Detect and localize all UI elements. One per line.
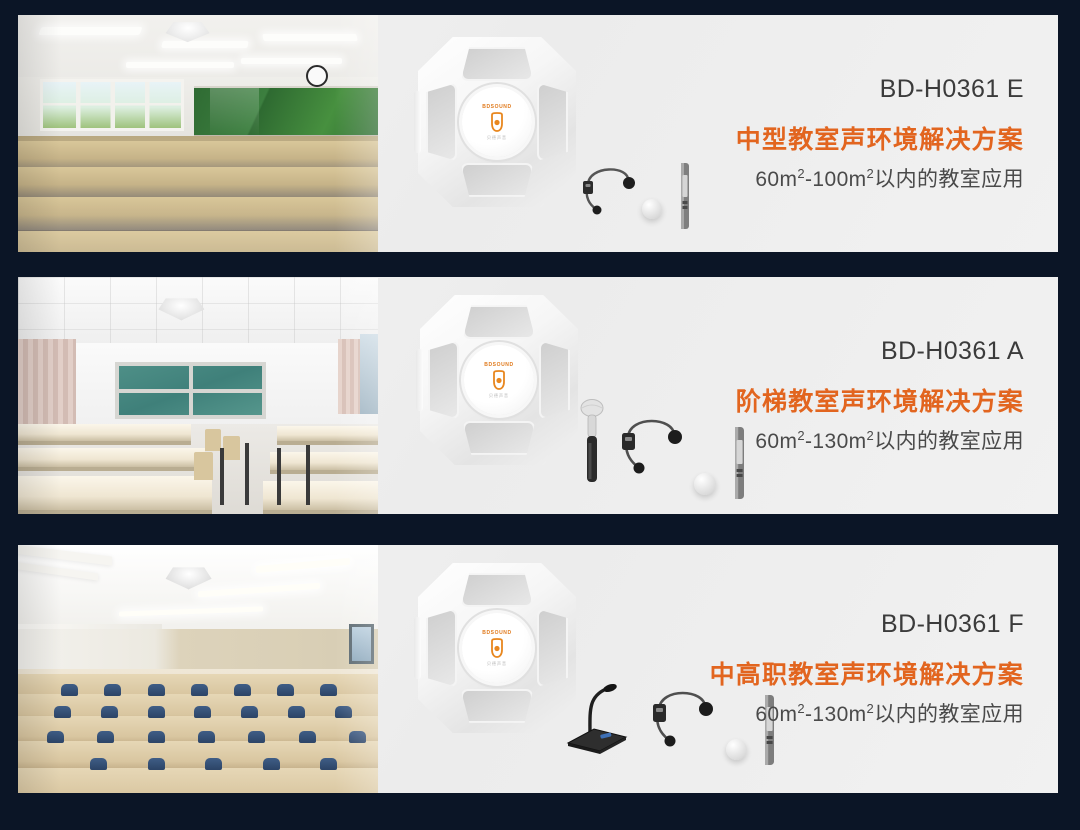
handheld-slim-microphone[interactable] [678, 163, 692, 229]
brand-logo-sub: 贝德声音 [489, 393, 509, 399]
bdsound-bell-icon [489, 638, 505, 658]
product-solution-page: BDSOUND 贝德声音 [0, 0, 1080, 830]
headset-microphone[interactable] [646, 677, 718, 751]
model-number: BD-H0361 F [881, 610, 1024, 639]
speaker-grille-bottom [461, 689, 534, 723]
speaker-center-dial[interactable]: BDSOUND 贝德声音 [462, 613, 532, 683]
coverage-area-note: 60m2-130m2以内的教室应用 [755, 425, 1024, 455]
area-prefix: 60m [755, 168, 797, 191]
speaker-center-dial[interactable]: BDSOUND 贝德声音 [464, 345, 534, 415]
coverage-area-note: 60m2-130m2以内的教室应用 [755, 698, 1024, 728]
solution-headline: 中高职教室声环境解决方案 [710, 655, 1024, 691]
classroom-photo-1 [18, 15, 378, 252]
speaker-grille-right [537, 83, 569, 161]
speaker-grille-top [461, 47, 534, 81]
white-dome-sensor[interactable] [694, 473, 716, 495]
classroom-photo-2 [18, 277, 378, 514]
headset-microphone[interactable] [578, 155, 640, 217]
solution-panel-2[interactable]: BDSOUND 贝德声音 [18, 277, 1058, 514]
area-prefix: 60m [755, 703, 797, 726]
solution-headline: 中型教室声环境解决方案 [736, 120, 1024, 156]
bdsound-speaker-device[interactable]: BDSOUND 贝德声音 [418, 563, 576, 733]
speaker-center-dial[interactable]: BDSOUND 贝德声音 [462, 87, 532, 157]
speaker-grille-left [428, 341, 460, 419]
area-mid: -130m [805, 703, 867, 726]
solution-panel-1[interactable]: BDSOUND 贝德声音 [18, 15, 1058, 252]
brand-logo-text: BDSOUND [482, 104, 511, 110]
solution-text-2: BD-H0361 A 阶梯教室声环境解决方案 60m2-130m2以内的教室应用 [736, 277, 1024, 514]
bdsound-speaker-device[interactable]: BDSOUND 贝德声音 [420, 295, 578, 465]
solution-text-1: BD-H0361 E 中型教室声环境解决方案 60m2-100m2以内的教室应用 [736, 15, 1024, 252]
speaker-grille-right [539, 341, 571, 419]
solution-panel-3[interactable]: BDSOUND 贝德声音 [18, 545, 1058, 793]
area-suffix: 以内的教室应用 [874, 430, 1024, 453]
area-sup-1: 2 [797, 428, 805, 443]
speaker-grille-top [463, 305, 536, 339]
handheld-wireless-microphone[interactable] [574, 399, 610, 485]
coverage-area-note: 60m2-100m2以内的教室应用 [755, 163, 1024, 193]
bdsound-bell-icon [489, 112, 505, 132]
solution-headline: 阶梯教室声环境解决方案 [736, 382, 1024, 418]
brand-logo-text: BDSOUND [482, 630, 511, 636]
brand-logo-sub: 贝德声音 [487, 135, 507, 141]
brand-logo-sub: 贝德声音 [487, 661, 507, 667]
white-dome-sensor[interactable] [642, 199, 662, 219]
area-suffix: 以内的教室应用 [874, 703, 1024, 726]
model-number: BD-H0361 E [880, 75, 1024, 104]
solution-text-3: BD-H0361 F 中高职教室声环境解决方案 60m2-130m2以内的教室应… [710, 545, 1024, 793]
area-suffix: 以内的教室应用 [874, 168, 1024, 191]
area-prefix: 60m [755, 430, 797, 453]
area-mid: -130m [805, 430, 867, 453]
area-sup-1: 2 [797, 701, 805, 716]
area-mid: -100m [805, 168, 867, 191]
speaker-grille-left [426, 609, 458, 687]
speaker-grille-top [461, 573, 534, 607]
model-number: BD-H0361 A [881, 337, 1024, 366]
speaker-grille-bottom [463, 421, 536, 455]
brand-logo-text: BDSOUND [484, 362, 513, 368]
classroom-photo-3 [18, 545, 378, 793]
headset-microphone[interactable] [616, 405, 688, 477]
area-sup-1: 2 [797, 166, 805, 181]
bdsound-bell-icon [491, 370, 507, 390]
speaker-grille-left [426, 83, 458, 161]
speaker-grille-bottom [461, 163, 534, 197]
wall-clock-icon [306, 65, 328, 87]
bdsound-speaker-device[interactable]: BDSOUND 贝德声音 [418, 37, 576, 207]
gooseneck-desk-microphone[interactable] [560, 675, 652, 755]
